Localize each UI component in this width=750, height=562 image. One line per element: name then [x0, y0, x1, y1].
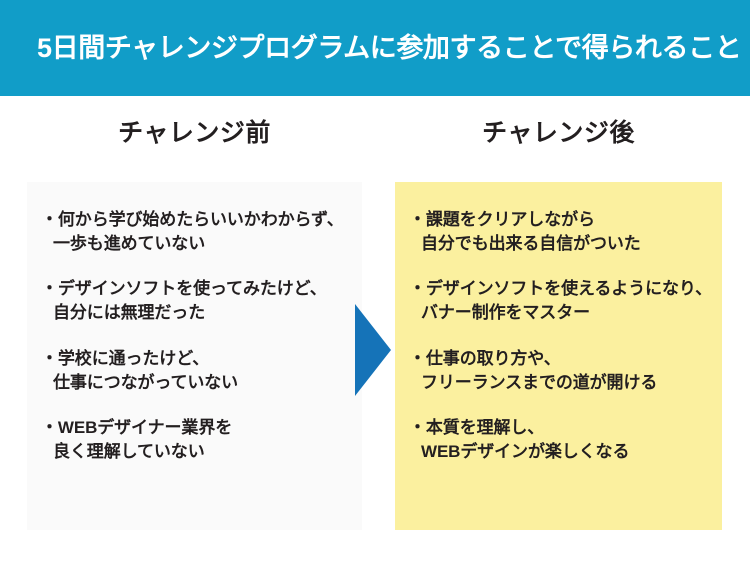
list-item: ・WEBデザイナー業界を 良く理解していない: [41, 416, 352, 464]
list-item: ・学校に通ったけど、 仕事につながっていない: [41, 347, 352, 395]
column-heading-after: チャレンジ後: [395, 118, 722, 148]
list-item-line-2: 仕事につながっていない: [41, 371, 352, 395]
list-item-line-2: バナー制作をマスター: [409, 301, 712, 325]
panel-before: ・何から学び始めたらいいかわからず、 一歩も進めていない ・デザインソフトを使っ…: [27, 182, 362, 530]
list-item: ・仕事の取り方や、 フリーランスまでの道が開ける: [409, 347, 712, 395]
list-item-line-1: ・デザインソフトを使ってみたけど、: [41, 277, 352, 301]
header-banner: 5日間チャレンジプログラムに参加することで得られること: [0, 0, 750, 96]
list-item: ・課題をクリアしながら 自分でも出来る自信がついた: [409, 208, 712, 256]
list-item-line-2: 一歩も進めていない: [41, 232, 352, 256]
list-item-line-1: ・本質を理解し、: [409, 416, 712, 440]
list-item-line-1: ・学校に通ったけど、: [41, 347, 352, 371]
list-item-line-2: フリーランスまでの道が開ける: [409, 371, 712, 395]
list-item-line-1: ・デザインソフトを使えるようになり、: [409, 277, 712, 301]
column-heading-before: チャレンジ前: [27, 118, 362, 148]
list-item-line-1: ・WEBデザイナー業界を: [41, 416, 352, 440]
list-item-line-1: ・仕事の取り方や、: [409, 347, 712, 371]
list-item-line-2: 自分でも出来る自信がついた: [409, 232, 712, 256]
list-item-line-1: ・何から学び始めたらいいかわからず、: [41, 208, 352, 232]
page-title: 5日間チャレンジプログラムに参加することで得られること: [37, 35, 741, 62]
list-item-line-2: WEBデザインが楽しくなる: [409, 440, 712, 464]
list-item-line-2: 良く理解していない: [41, 440, 352, 464]
list-item: ・デザインソフトを使えるようになり、 バナー制作をマスター: [409, 277, 712, 325]
list-item-line-2: 自分には無理だった: [41, 301, 352, 325]
list-item-line-1: ・課題をクリアしながら: [409, 208, 712, 232]
bullet-list-before: ・何から学び始めたらいいかわからず、 一歩も進めていない ・デザインソフトを使っ…: [41, 208, 352, 464]
list-item: ・何から学び始めたらいいかわからず、 一歩も進めていない: [41, 208, 352, 256]
list-item: ・デザインソフトを使ってみたけど、 自分には無理だった: [41, 277, 352, 325]
arrow-right-icon: [355, 304, 391, 396]
list-item: ・本質を理解し、 WEBデザインが楽しくなる: [409, 416, 712, 464]
bullet-list-after: ・課題をクリアしながら 自分でも出来る自信がついた ・デザインソフトを使えるよう…: [409, 208, 712, 464]
panel-after: ・課題をクリアしながら 自分でも出来る自信がついた ・デザインソフトを使えるよう…: [395, 182, 722, 530]
